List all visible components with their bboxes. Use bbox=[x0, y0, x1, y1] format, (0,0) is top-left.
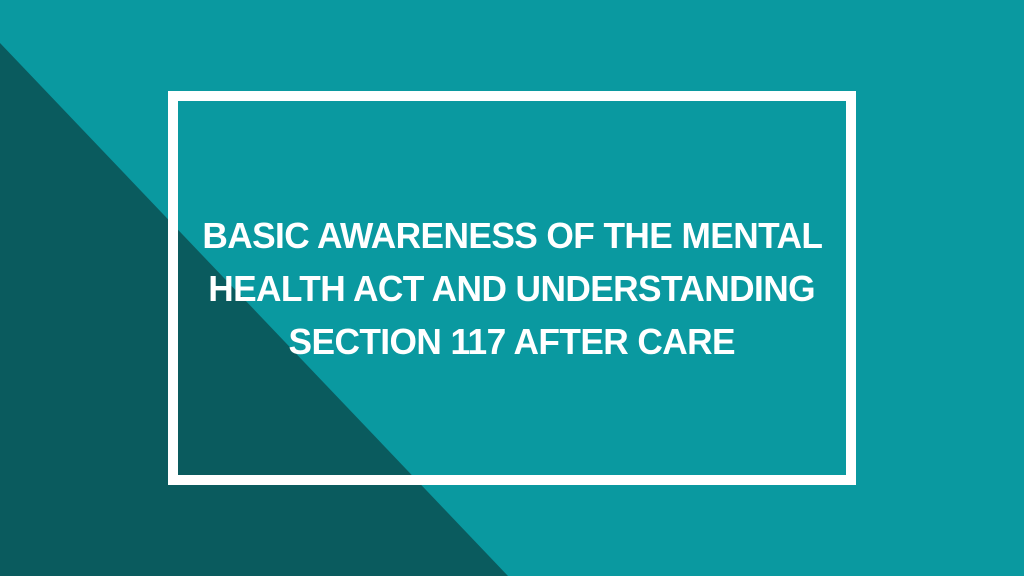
title-line-1: BASIC AWARENESS OF THE MENTAL bbox=[202, 209, 822, 262]
title-slide: BASIC AWARENESS OF THE MENTAL HEALTH ACT… bbox=[0, 0, 1024, 576]
title-line-3: SECTION 117 AFTER CARE bbox=[289, 315, 735, 368]
title-line-2: HEALTH ACT AND UNDERSTANDING bbox=[209, 262, 816, 315]
title-text-block: BASIC AWARENESS OF THE MENTAL HEALTH ACT… bbox=[168, 91, 856, 485]
